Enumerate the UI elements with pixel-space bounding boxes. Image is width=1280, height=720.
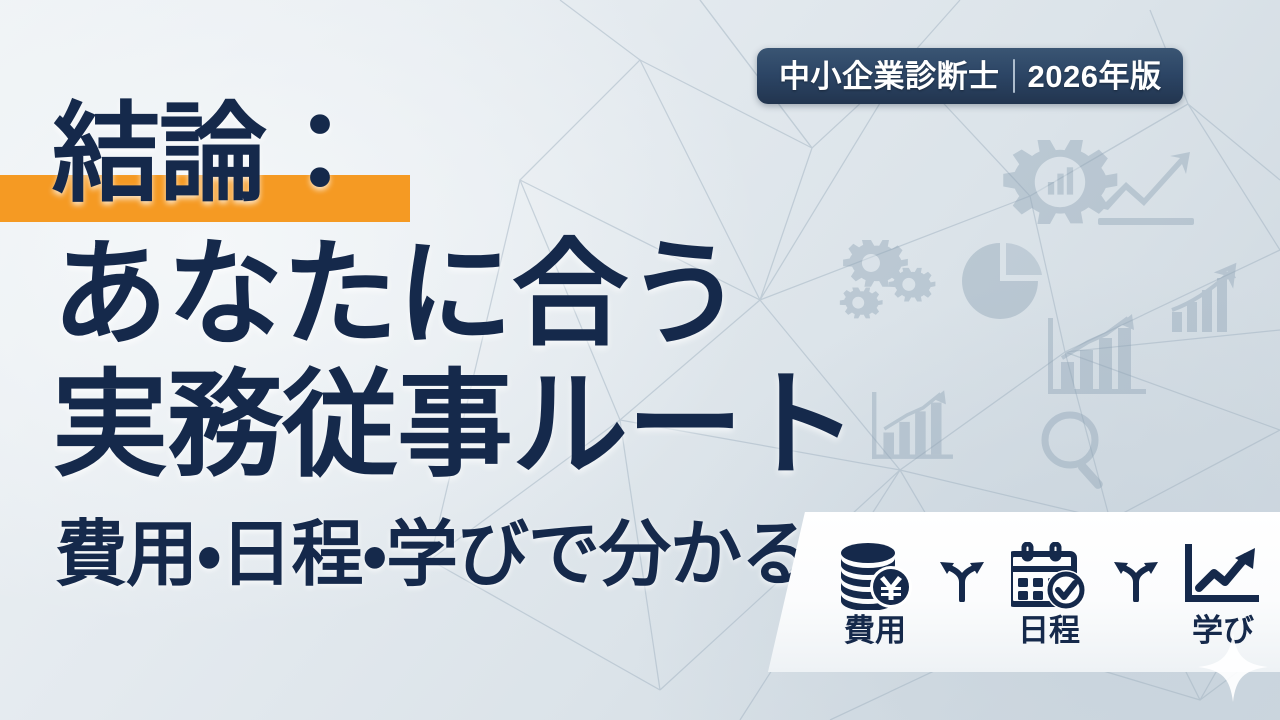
pie-chart-icon — [962, 243, 1042, 319]
badge-divider — [1013, 59, 1015, 93]
coins-yen-icon — [837, 539, 913, 613]
step-schedule: 日程 — [997, 539, 1101, 646]
step-cost-label: 費用 — [844, 615, 906, 646]
calendar-check-icon — [1011, 539, 1087, 613]
growth-chart-icon — [1183, 539, 1263, 613]
sparkle-icon — [1198, 632, 1268, 702]
headline-line-2: あなたに合う — [52, 236, 742, 352]
headline-subtitle: 費用・日程・学びで分かる — [55, 519, 812, 591]
kicker-text: 結論： — [52, 100, 373, 208]
fork-arrow-icon-1 — [933, 556, 991, 628]
step-schedule-label: 日程 — [1018, 615, 1080, 646]
headline-line-3: 実務従事ルート — [52, 367, 857, 483]
badge-edition-text: 2026年版 — [1028, 61, 1162, 92]
trend-arrow-icon — [1098, 152, 1194, 225]
step-cost: 費用 — [823, 539, 927, 646]
gear-bars-icon — [1003, 140, 1117, 224]
bar-chart-arrow-icon — [1048, 314, 1146, 394]
double-gear-icon — [840, 240, 936, 318]
bar-chart-small-icon — [872, 390, 953, 459]
magnifier-icon — [1045, 415, 1104, 491]
bar-chart-up-icon — [1172, 266, 1236, 332]
kicker-block: 結論： — [0, 100, 860, 230]
badge-qualification-text: 中小企業診断士 — [779, 61, 1000, 92]
qualification-badge: 中小企業診断士 2026年版 — [757, 48, 1183, 104]
step-learning: 学び — [1171, 539, 1275, 646]
fork-arrow-icon-2 — [1107, 556, 1165, 628]
thumbnail-canvas: 中小企業診断士 2026年版 結論： あなたに合う 実務従事ルート 費用・日程・… — [0, 0, 1280, 720]
